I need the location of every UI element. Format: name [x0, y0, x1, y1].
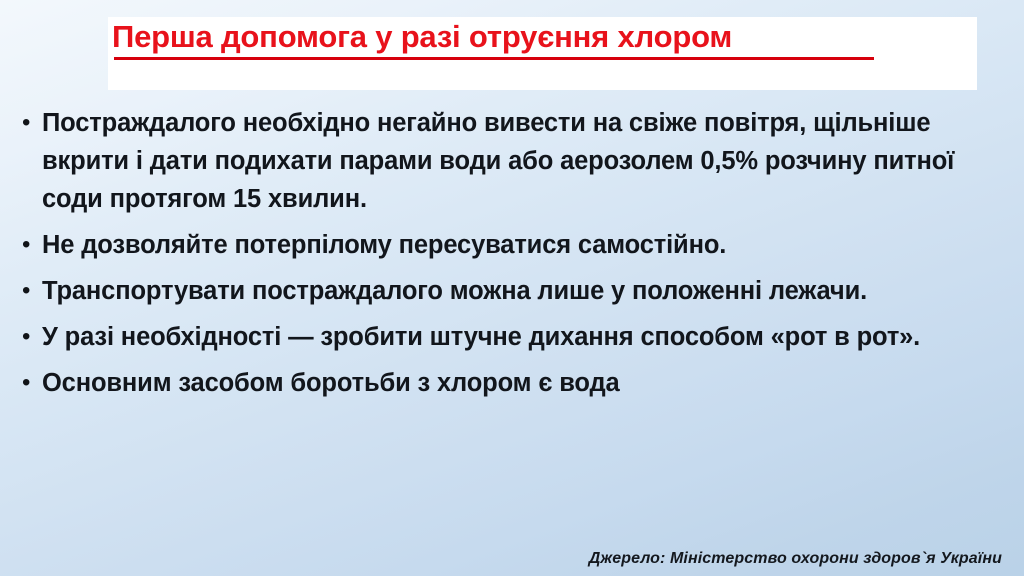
list-item-text: Не дозволяйте потерпілому пересуватися с…	[42, 226, 997, 264]
list-item: • Основним засобом боротьби з хлором є в…	[22, 364, 997, 402]
list-item: • Транспортувати постраждалого можна лиш…	[22, 272, 997, 310]
bullet-marker-icon: •	[22, 272, 42, 310]
list-item-text: Постраждалого необхідно негайно вивести …	[42, 104, 997, 218]
list-item: • У разі необхідності — зробити штучне д…	[22, 318, 997, 356]
list-item: • Не дозволяйте потерпілому пересуватися…	[22, 226, 997, 264]
slide-canvas: Перша допомога у разі отруєння хлором • …	[0, 0, 1024, 576]
list-item: • Постраждалого необхідно негайно вивест…	[22, 104, 997, 218]
bullet-marker-icon: •	[22, 104, 42, 142]
bullet-list: • Постраждалого необхідно негайно вивест…	[22, 104, 997, 410]
list-item-text: Транспортувати постраждалого можна лише …	[42, 272, 997, 310]
list-item-text: Основним засобом боротьби з хлором є вод…	[42, 364, 997, 402]
bullet-marker-icon: •	[22, 226, 42, 264]
title-underline	[114, 57, 874, 60]
source-attribution: Джерело: Міністерство охорони здоров`я У…	[589, 550, 1002, 568]
page-title: Перша допомога у разі отруєння хлором	[112, 18, 972, 56]
bullet-marker-icon: •	[22, 364, 42, 402]
bullet-marker-icon: •	[22, 318, 42, 356]
list-item-text: У разі необхідності — зробити штучне дих…	[42, 318, 997, 356]
